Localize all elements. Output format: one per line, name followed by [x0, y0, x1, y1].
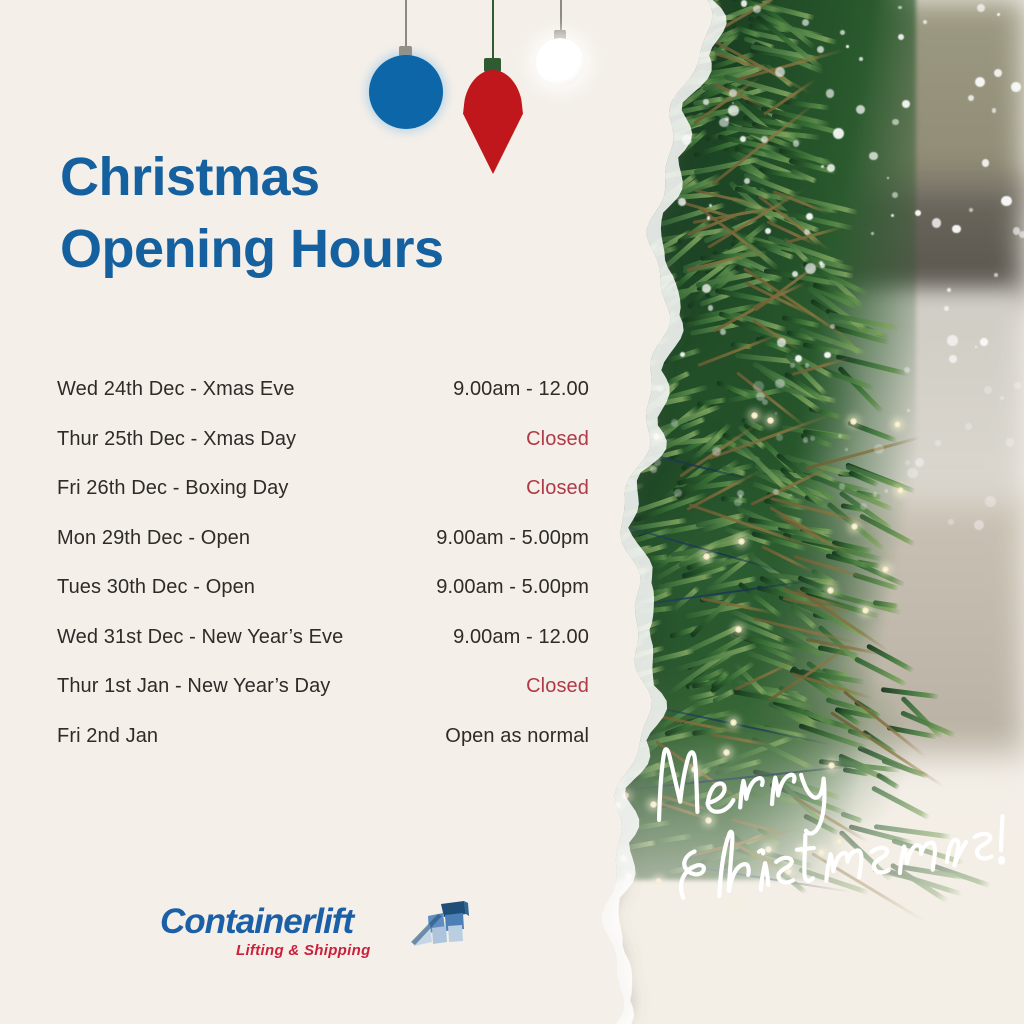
- opening-hours-status-closed: Closed: [526, 428, 589, 451]
- page-title-line-2: Opening Hours: [60, 214, 444, 286]
- ornament-string-blue: [405, 0, 407, 52]
- opening-hours-day: Tues 30th Dec - Open: [57, 576, 255, 599]
- poster: Christmas Opening Hours Wed 24th Dec - X…: [0, 0, 1024, 1024]
- opening-hours-day: Fri 26th Dec - Boxing Day: [57, 477, 288, 500]
- opening-hours-day: Wed 24th Dec - Xmas Eve: [57, 378, 295, 401]
- container-stack-icon: [408, 898, 470, 954]
- company-logo: Containerlift Lifting & Shipping: [160, 898, 470, 964]
- ornament-string-white: [560, 0, 562, 34]
- opening-hours-row: Thur 1st Jan - New Year’s DayClosed: [57, 675, 589, 725]
- christmas-tree-photo: [596, 0, 1024, 1024]
- opening-hours-status-closed: Closed: [526, 477, 589, 500]
- opening-hours-day: Fri 2nd Jan: [57, 725, 158, 748]
- opening-hours-row: Fri 26th Dec - Boxing DayClosed: [57, 477, 589, 527]
- logo-tagline: Lifting & Shipping: [236, 942, 371, 959]
- opening-hours-day: Thur 25th Dec - Xmas Day: [57, 428, 296, 451]
- opening-hours-time: 9.00am - 5.00pm: [436, 576, 589, 599]
- opening-hours-day: Mon 29th Dec - Open: [57, 527, 250, 550]
- opening-hours-time: 9.00am - 12.00: [453, 626, 589, 649]
- opening-hours-row: Tues 30th Dec - Open9.00am - 5.00pm: [57, 576, 589, 626]
- red-teardrop-icon: [463, 70, 523, 174]
- opening-hours-row: Wed 31st Dec - New Year’s Eve9.00am - 12…: [57, 626, 589, 676]
- page-title-line-1: Christmas: [60, 142, 444, 214]
- opening-hours-time: Open as normal: [445, 725, 589, 748]
- opening-hours-row: Mon 29th Dec - Open9.00am - 5.00pm: [57, 527, 589, 577]
- opening-hours-day: Wed 31st Dec - New Year’s Eve: [57, 626, 343, 649]
- opening-hours-row: Thur 25th Dec - Xmas DayClosed: [57, 428, 589, 478]
- blue-bauble-icon: [369, 55, 443, 129]
- white-bauble-icon: [536, 38, 584, 86]
- opening-hours-time: 9.00am - 12.00: [453, 378, 589, 401]
- opening-hours-time: 9.00am - 5.00pm: [436, 527, 589, 550]
- opening-hours-status-closed: Closed: [526, 675, 589, 698]
- opening-hours-row: Fri 2nd JanOpen as normal: [57, 725, 589, 775]
- opening-hours-day: Thur 1st Jan - New Year’s Day: [57, 675, 330, 698]
- opening-hours-list: Wed 24th Dec - Xmas Eve9.00am - 12.00Thu…: [57, 378, 589, 774]
- ornament-string-red: [492, 0, 494, 60]
- logo-wordmark: Containerlift: [160, 902, 353, 942]
- page-title: Christmas Opening Hours: [60, 142, 444, 286]
- opening-hours-row: Wed 24th Dec - Xmas Eve9.00am - 12.00: [57, 378, 589, 428]
- ornament-cap-red: [484, 58, 501, 72]
